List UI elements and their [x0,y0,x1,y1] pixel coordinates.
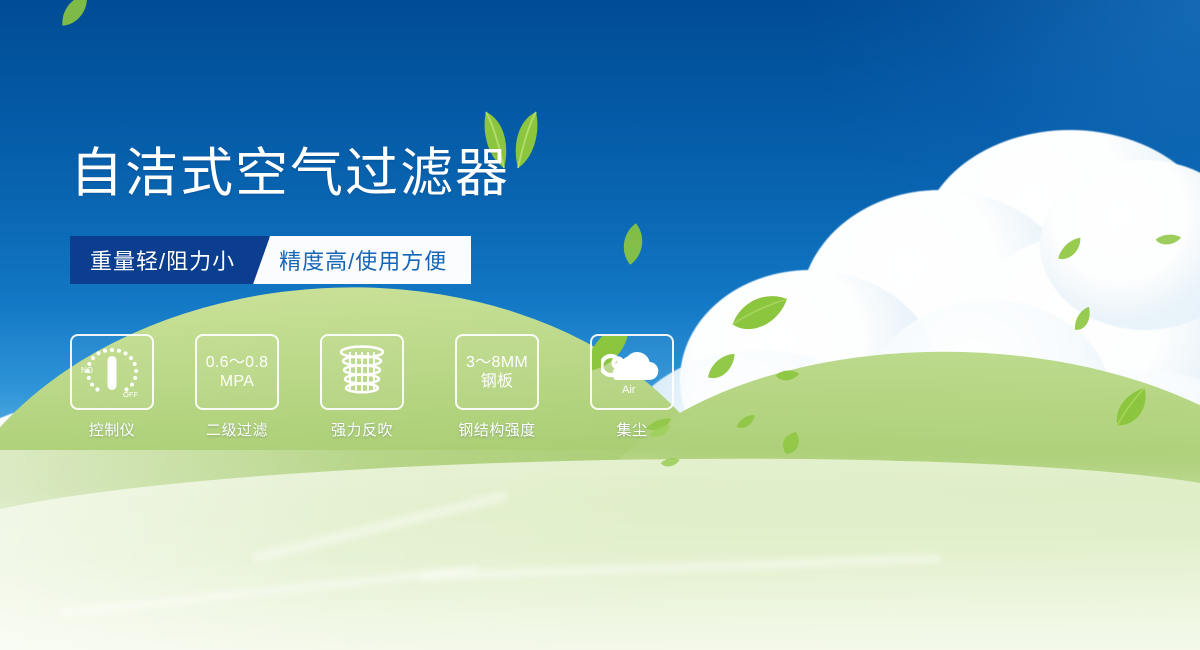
control-dial-icon: NO OFF [78,341,146,403]
feature-label: 控制仪 [89,419,136,440]
coil-filter-icon [333,343,391,401]
feature-icon-box: 0.6～0.8 MPA [195,334,279,410]
air-label: Air [622,384,636,395]
feature-icon-box [320,334,404,410]
banner-stage: 自洁式空气过滤器 重量轻/阻力小 精度高/使用方便 [0,0,1200,650]
pressure-unit-line: MPA [206,372,269,391]
feature-icon-box: Air [590,334,674,410]
feature-label: 钢结构强度 [458,419,536,440]
pressure-range-line: 0.6～0.8 [206,354,269,371]
feature-label: 二级过滤 [206,419,268,440]
steel-material-line: 钢板 [466,372,528,391]
air-cloud-icon: Air [601,349,663,395]
feature-label: 集尘 [616,419,647,440]
feature-item-secondary-filtration[interactable]: 0.6～0.8 MPA 二级过滤 [195,334,279,440]
svg-text:NO: NO [81,366,93,375]
feature-list: NO OFF 控制仪 0.6～0.8 MPA 二级过滤 [70,334,674,440]
feature-item-steel-strength[interactable]: 3～8MM 钢板 钢结构强度 [445,334,549,440]
feature-label: 强力反吹 [331,419,393,440]
feature-tags: 重量轻/阻力小 精度高/使用方便 [70,236,471,284]
tag-lightweight-low-resistance: 重量轻/阻力小 [70,236,269,284]
pressure-value-icon: 0.6～0.8 MPA [206,353,269,391]
feature-item-strong-backblow[interactable]: 强力反吹 [320,334,404,440]
page-title: 自洁式空气过滤器 [70,143,510,205]
feature-item-dust-collection[interactable]: Air 集尘 [590,334,674,440]
feature-icon-box: NO OFF [70,334,154,410]
feature-item-control-instrument[interactable]: NO OFF 控制仪 [70,334,154,440]
steel-thickness-line: 3～8MM [466,354,528,371]
banner-content: 自洁式空气过滤器 重量轻/阻力小 精度高/使用方便 [0,0,1200,650]
tag-high-precision-easy-use: 精度高/使用方便 [253,236,471,284]
feature-icon-box: 3～8MM 钢板 [455,334,539,410]
svg-text:OFF: OFF [123,390,138,399]
steel-plate-icon: 3～8MM 钢板 [466,353,528,391]
